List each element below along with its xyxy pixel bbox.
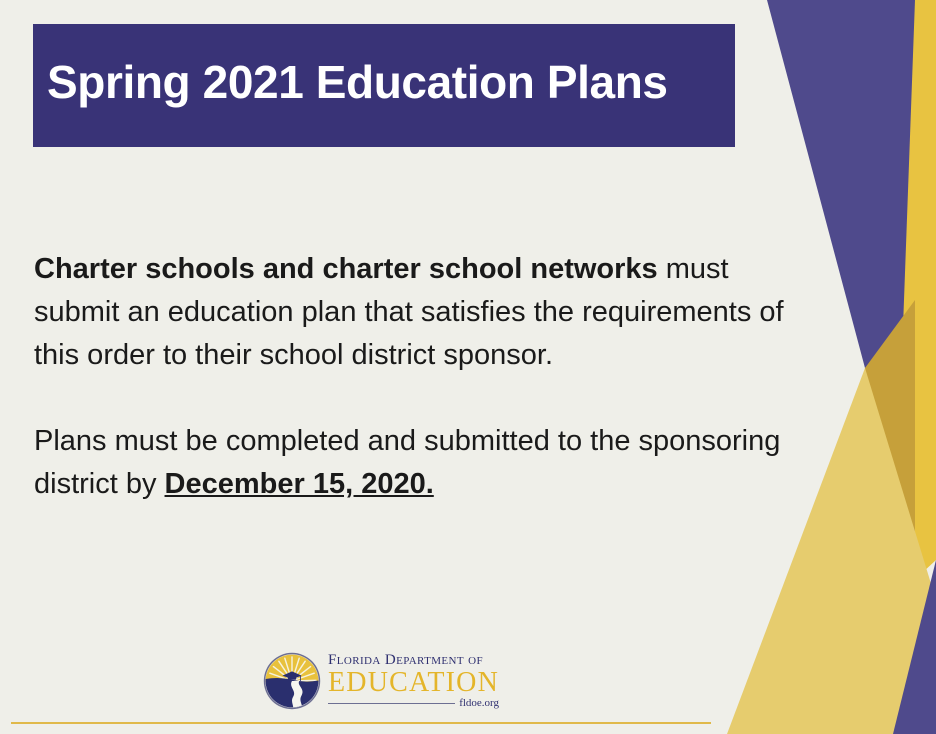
florida-doe-seal-icon [262,651,322,711]
paragraph-charter-schools: Charter schools and charter school netwo… [34,248,794,377]
footer-gold-rule [11,722,711,724]
paragraph-deadline: Plans must be completed and submitted to… [34,420,794,506]
paragraph1-lead-bold: Charter schools and charter school netwo… [34,253,658,285]
purple-wedge-bottom [893,560,936,734]
body-content: Charter schools and charter school netwo… [34,248,794,506]
gold-wedge-dark [830,300,915,620]
page-title: Spring 2021 Education Plans [47,58,668,106]
gold-band-right-top [893,0,936,600]
logo-wordmark: Florida Department of EDUCATION fldoe.or… [328,653,499,709]
florida-doe-logo: Florida Department of EDUCATION fldoe.or… [262,648,490,714]
deadline-date: December 15, 2020. [165,468,434,500]
logo-url-row: fldoe.org [328,698,499,709]
slide-canvas: Spring 2021 Education Plans Charter scho… [0,0,936,734]
logo-line-florida-department-of: Florida Department of [328,653,499,668]
logo-line-education: EDUCATION [328,668,499,697]
title-banner: Spring 2021 Education Plans [33,24,735,147]
logo-url: fldoe.org [459,698,499,709]
logo-divider [328,703,455,704]
